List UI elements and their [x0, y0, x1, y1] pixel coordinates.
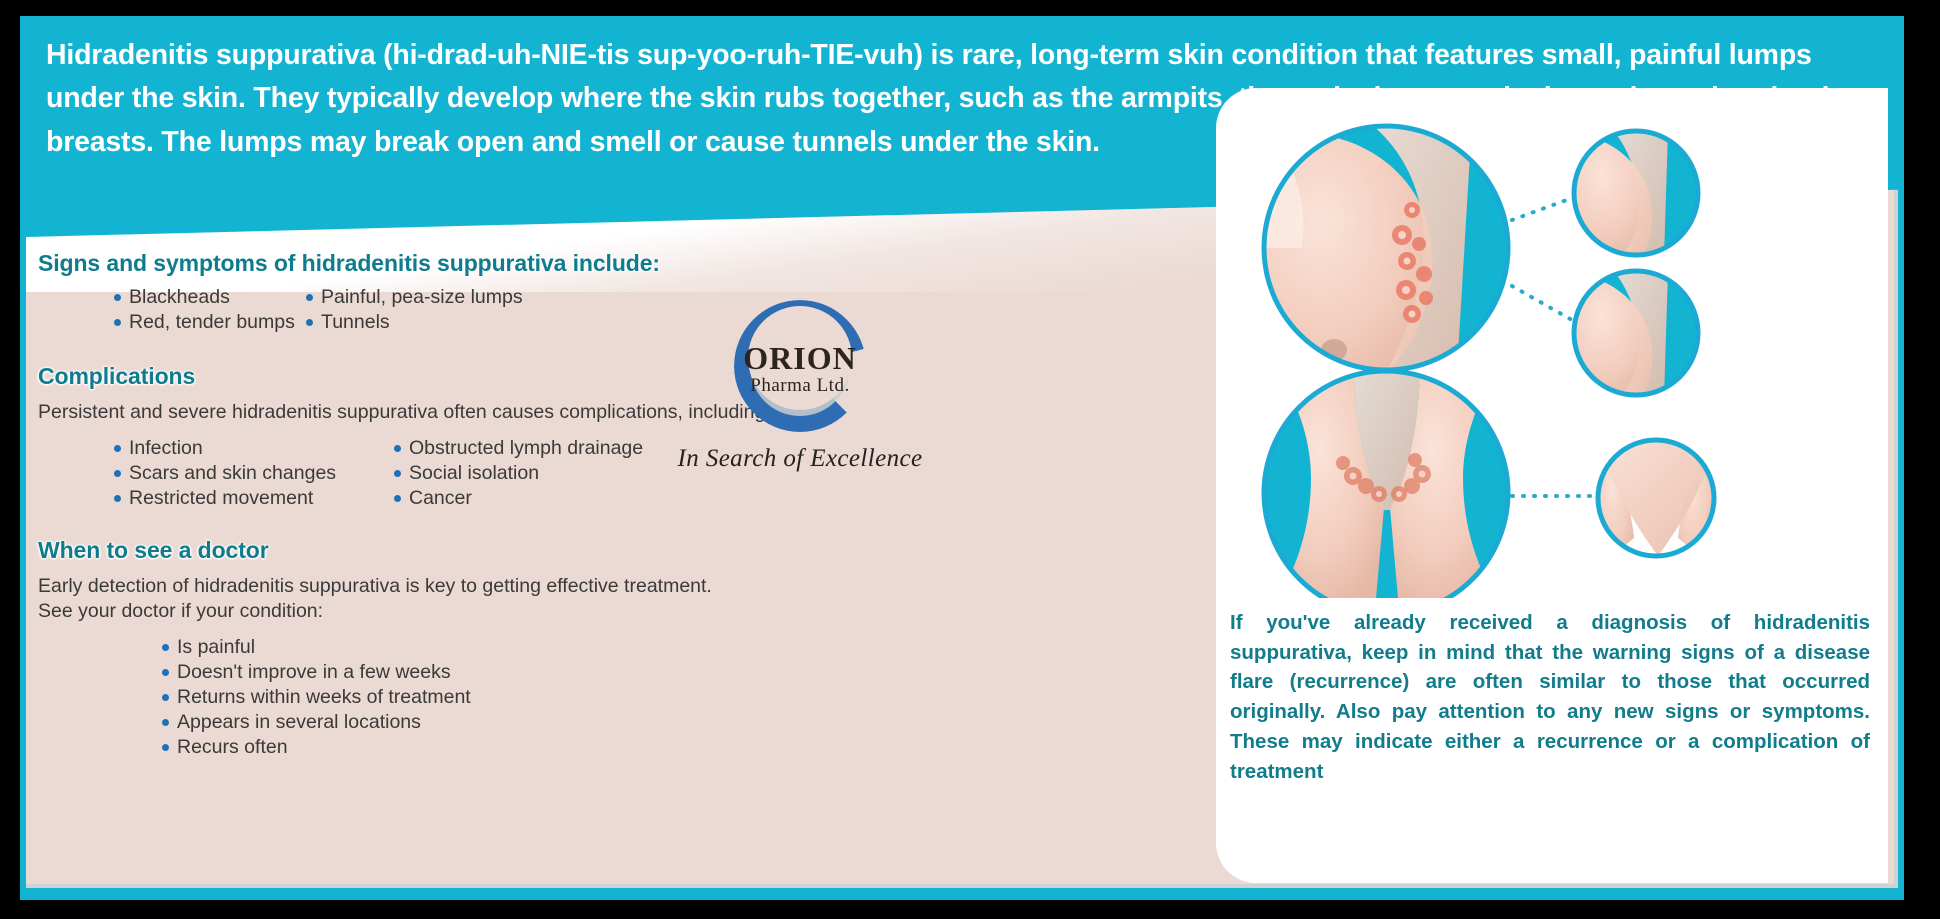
- logo-company-subtitle: Pharma Ltd.: [734, 375, 866, 397]
- list-item: Red, tender bumps: [114, 310, 306, 335]
- logo-tagline: In Search of Excellence: [650, 445, 950, 473]
- list-item: Returns within weeks of treatment: [162, 685, 1014, 710]
- signs-list-right: Painful, pea-size lumps Tunnels: [306, 285, 523, 335]
- list-item: Social isolation: [394, 461, 643, 486]
- orion-logo-mark-icon: ORION Pharma Ltd.: [734, 300, 866, 432]
- list-item: Painful, pea-size lumps: [306, 285, 523, 310]
- list-item: Tunnels: [306, 310, 523, 335]
- doctor-list: Is painful Doesn't improve in a few week…: [162, 635, 1014, 760]
- list-item: Doesn't improve in a few weeks: [162, 660, 1014, 685]
- logo-wordmark: ORION Pharma Ltd.: [734, 342, 866, 397]
- list-item: Restricted movement: [114, 486, 394, 511]
- logo-company-name: ORION: [734, 342, 866, 374]
- doctor-intro-line-1: Early detection of hidradenitis suppurat…: [38, 574, 1014, 599]
- list-item: Obstructed lymph drainage: [394, 436, 643, 461]
- list-item: Cancer: [394, 486, 643, 511]
- complications-list-right: Obstructed lymph drainage Social isolati…: [394, 436, 643, 511]
- doctor-heading: When to see a doctor: [38, 537, 1014, 564]
- list-item: Is painful: [162, 635, 1014, 660]
- list-item: Appears in several locations: [162, 710, 1014, 735]
- doctor-intro-line-2: See your doctor if your condition:: [38, 599, 1014, 624]
- complications-list-left: Infection Scars and skin changes Restric…: [114, 436, 394, 511]
- section-when-to-see-doctor: When to see a doctor Early detection of …: [14, 537, 1014, 760]
- medical-illustration-icon: [1216, 98, 1888, 598]
- list-item: Scars and skin changes: [114, 461, 394, 486]
- card-note-text: If you've already received a diagnosis o…: [1230, 608, 1870, 786]
- list-item: Infection: [114, 436, 394, 461]
- signs-list-left: Blackheads Red, tender bumps: [114, 285, 306, 335]
- signs-heading: Signs and symptoms of hidradenitis suppu…: [38, 250, 1014, 277]
- orion-logo: ORION Pharma Ltd. In Search of Excellenc…: [650, 300, 950, 473]
- poster-root: Hidradenitis suppurativa (hi-drad-uh-NIE…: [0, 0, 1940, 919]
- list-item: Blackheads: [114, 285, 306, 310]
- right-panel-card: If you've already received a diagnosis o…: [1216, 88, 1888, 883]
- spacer: [14, 511, 1014, 537]
- list-item: Recurs often: [162, 735, 1014, 760]
